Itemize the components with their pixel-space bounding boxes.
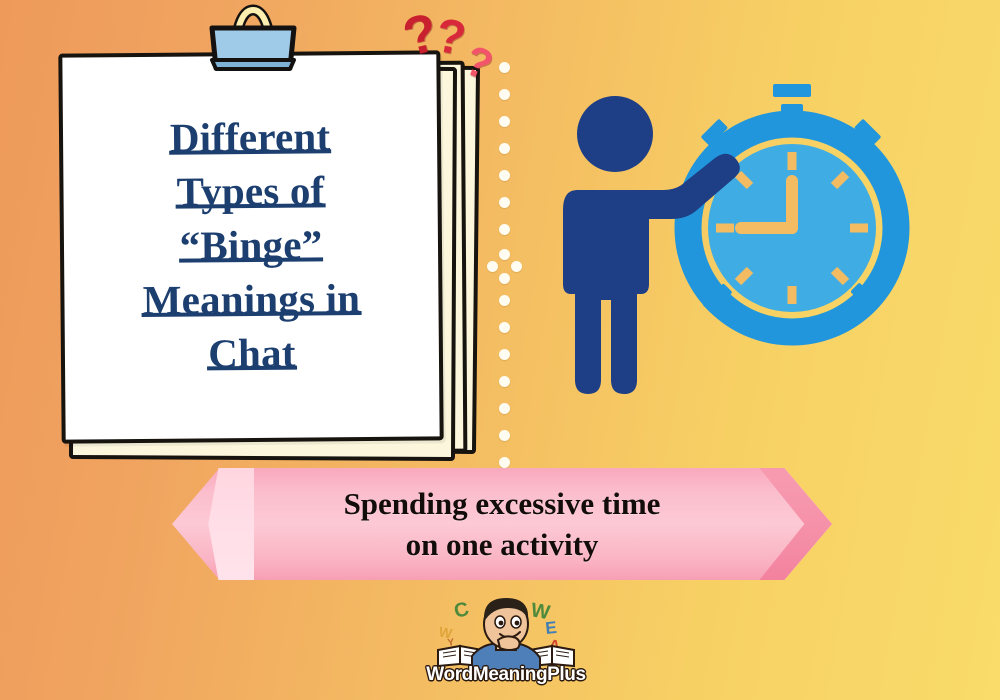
svg-text:E: E [544,618,557,638]
divider-dot [499,89,510,100]
pink-hexagon-banner: Spending excessive time on one activity [172,468,832,580]
clipped-paper-stack: Different Types of “Binge” Meanings in C… [60,52,480,452]
dotted-divider [492,62,518,462]
poster-canvas: { "background": { "gradient_from": "#EE9… [0,0,1000,700]
divider-dot-cluster [499,273,510,284]
page-title: Different Types of “Binge” Meanings in C… [58,50,443,443]
title-line-4: Meanings in [142,272,360,326]
divider-dot [499,295,510,306]
wordmeaningplus-logo[interactable]: C W Y W E A T [420,592,592,688]
title-line-5: Chat [208,327,296,380]
title-line-2: Types of [176,164,324,217]
divider-dot [499,349,510,360]
divider-dot [499,457,510,468]
divider-dot [499,403,510,414]
divider-dot [499,224,510,235]
person-clock-svg [545,78,915,418]
svg-text:C: C [452,598,471,623]
person-pointing-at-clock-illustration [545,78,915,418]
title-line-3: “Binge” [179,218,322,271]
logo-illustration: C W Y W E A T [420,592,592,670]
question-mark-icon-3: ? [459,39,499,88]
question-mark-decoration: ? ? ? [404,8,504,88]
divider-dot [499,197,510,208]
logo-thinking-hand [498,636,520,650]
binder-clip-svg [198,2,308,82]
divider-dot-cluster [511,261,522,272]
banner-line-1: Spending excessive time [344,485,661,522]
divider-dot [499,376,510,387]
logo-wordmark: WordMeaningPlus [420,664,592,686]
divider-dot-cluster [499,249,510,260]
banner-line-2: on one activity [406,526,599,563]
question-mark-icon-2: ? [432,12,469,64]
title-line-1: Different [170,110,331,163]
divider-dot [499,143,510,154]
divider-dot [499,170,510,181]
banner-text: Spending excessive time on one activity [172,468,832,580]
divider-dot [499,116,510,127]
divider-dot [499,322,510,333]
divider-dot-cluster [487,261,498,272]
divider-dot [499,430,510,441]
binder-clip-icon [198,2,308,82]
